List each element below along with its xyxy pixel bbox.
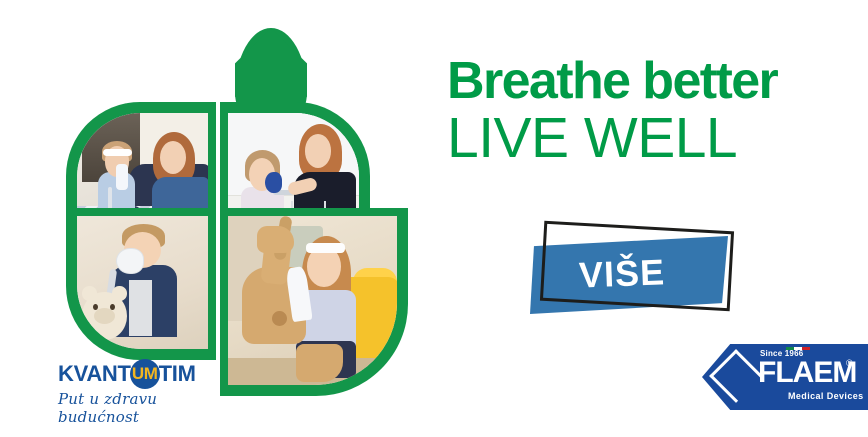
- vise-cta-button[interactable]: VIŠE: [516, 222, 746, 330]
- photo-bottom-left: [77, 216, 208, 349]
- photo-bottom-right: [228, 216, 397, 385]
- four-petal-leaf-logo: [62, 22, 407, 367]
- kvantum-logo-um: UM: [132, 364, 157, 384]
- kvantum-logo-circle: UM: [130, 359, 160, 389]
- kvantum-tagline: Put u zdravu budućnost: [58, 390, 238, 426]
- cta-label: VIŠE: [514, 218, 730, 330]
- flaem-subtitle: Medical Devices: [788, 391, 864, 401]
- promo-banner: Breathe better LIVE WELL VIŠE KVANT UM T…: [0, 0, 868, 437]
- kvantum-logo-part2: TIM: [159, 361, 196, 387]
- headline-line-2: LIVE WELL: [447, 108, 847, 168]
- flaem-logo: Since 1966 FLAEM ® Medical Devices: [702, 344, 868, 410]
- headline: Breathe better LIVE WELL: [447, 52, 847, 168]
- leaf-petal-bottom-left: [66, 208, 216, 360]
- leaf-petal-bottom-right: [220, 208, 408, 396]
- kvantum-logo-part1: KVANT: [58, 361, 131, 387]
- headline-line-1: Breathe better: [447, 52, 847, 110]
- registered-trademark-icon: ®: [846, 358, 853, 368]
- kvantum-tim-logo: KVANT UM TIM Put u zdravu budućnost: [58, 362, 238, 414]
- flaem-wordmark: FLAEM: [758, 358, 856, 388]
